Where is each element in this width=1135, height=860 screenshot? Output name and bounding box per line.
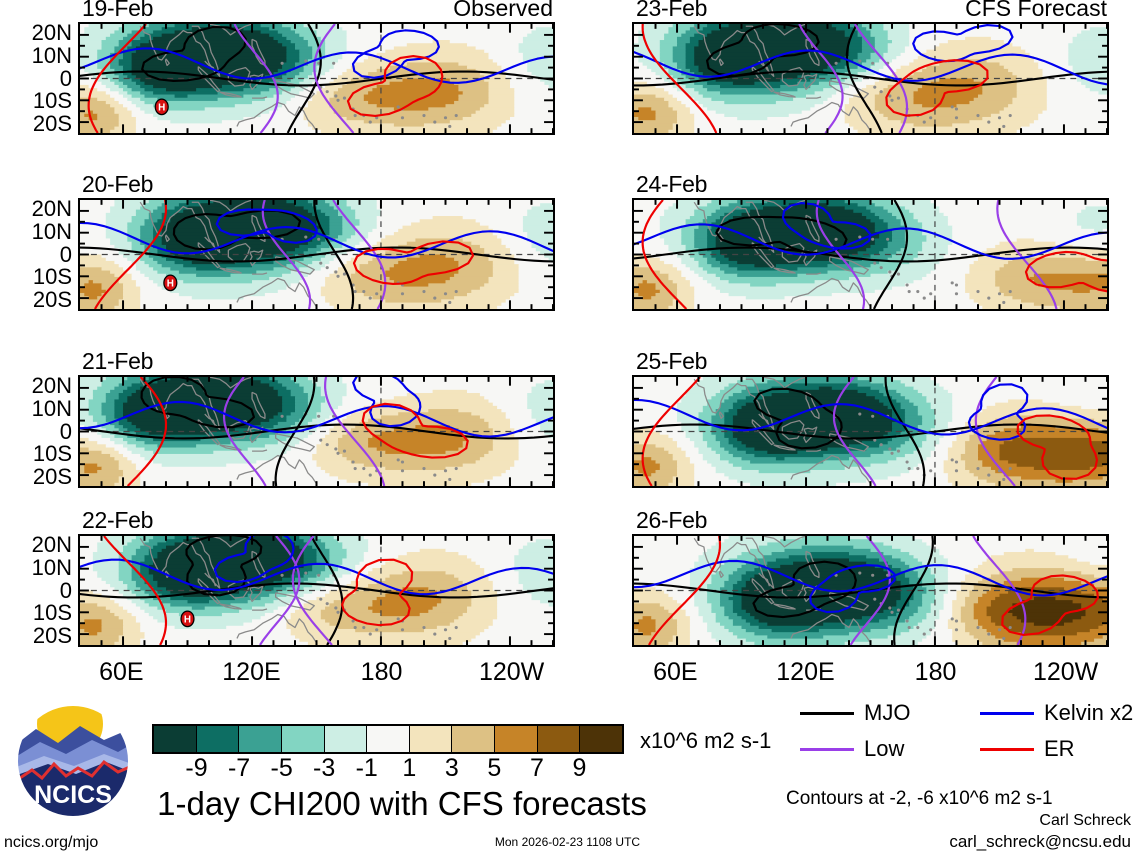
y-tick-label: 20N [32, 534, 72, 556]
colorbar-tick-label: -5 [271, 756, 293, 781]
y-tick-label: 20S [33, 113, 72, 135]
colorbar-tick-label: 5 [487, 756, 501, 781]
y-tick-label: 0 [60, 580, 72, 602]
y-tick-label: 0 [60, 421, 72, 443]
legend-label: Low [864, 738, 904, 760]
y-tick-label: 10N [32, 557, 72, 579]
panel-date-label: 22-Feb [82, 509, 153, 532]
x-tick-label: 120E [222, 660, 280, 685]
legend-label: ER [1044, 738, 1075, 760]
y-tick-label: 20N [32, 375, 72, 397]
author-name: Carl Schreck [1039, 812, 1131, 829]
colorbar-tick-label: 1 [402, 756, 416, 781]
y-tick-label: 20S [33, 625, 72, 647]
map-panel-26-feb: 26-Feb60E120E180120W [632, 534, 1109, 647]
y-axis-labels: 20N10N010S20S [4, 198, 78, 311]
colorbar-swatch [580, 726, 622, 752]
panel-source-label: Observed [453, 0, 553, 20]
y-tick-label: 10S [33, 443, 72, 465]
chi200-map [632, 534, 1109, 647]
panel-date-label: 21-Feb [82, 350, 153, 373]
legend-line-swatch [800, 712, 854, 715]
y-tick-label: 20S [33, 466, 72, 488]
colorbar-swatch [282, 726, 325, 752]
panel-date-label: 24-Feb [636, 173, 707, 196]
map-panel-22-feb: 22-Feb20N10N010S20S60E120E180120WH [78, 534, 555, 647]
legend-entry-er: ER [980, 738, 1075, 760]
y-tick-label: 10S [33, 602, 72, 624]
colorbar-tick-label: -1 [356, 756, 378, 781]
figure-footer: NCICS -9-7-5-3-113579 x10^6 m2 s-1 1-day… [0, 690, 1135, 860]
y-tick-label: 10N [32, 398, 72, 420]
svg-text:H: H [158, 103, 165, 114]
panel-date-label: 26-Feb [636, 509, 707, 532]
y-tick-label: 10N [32, 45, 72, 67]
legend-line-swatch [980, 748, 1034, 751]
svg-text:H: H [167, 279, 174, 290]
colorbar-swatch [154, 726, 197, 752]
colorbar-swatches [152, 724, 624, 754]
y-axis-labels: 20N10N010S20S [4, 375, 78, 488]
x-tick-label: 60E [99, 660, 143, 685]
svg-text:H: H [184, 615, 191, 626]
map-panel-20-feb: 20-Feb20N10N010S20SH [78, 198, 555, 311]
y-tick-label: 10S [33, 266, 72, 288]
colorbar-tick-label: 3 [445, 756, 459, 781]
legend-line-swatch [800, 748, 854, 751]
x-tick-label: 120W [479, 660, 544, 685]
panel-source-label: CFS Forecast [965, 0, 1107, 20]
y-axis-labels: 20N10N010S20S [4, 534, 78, 647]
colorbar-swatch [197, 726, 240, 752]
colorbar-swatch [367, 726, 410, 752]
x-tick-label: 180 [361, 660, 403, 685]
legend-label: Kelvin x2 [1044, 702, 1133, 724]
colorbar-swatch [325, 726, 368, 752]
colorbar-tick-label: -9 [185, 756, 207, 781]
map-panel-24-feb: 24-Feb [632, 198, 1109, 311]
ncics-logo: NCICS [14, 702, 132, 820]
x-axis-labels: 60E120E180120W [632, 647, 1109, 687]
y-tick-label: 20S [33, 289, 72, 311]
chi200-map: H [78, 22, 555, 135]
colorbar-swatch [410, 726, 453, 752]
legend-entry-mjo: MJO [800, 702, 910, 724]
colorbar-tick-label: -7 [228, 756, 250, 781]
map-panel-19-feb: 19-FebObserved20N10N010S20SH [78, 22, 555, 135]
chi200-map [632, 375, 1109, 488]
y-tick-label: 10S [33, 90, 72, 112]
chi200-map: H [78, 198, 555, 311]
colorbar-tick-label: 9 [573, 756, 587, 781]
chi200-map: H [78, 534, 555, 647]
y-tick-label: 20N [32, 198, 72, 220]
colorbar-unit-label: x10^6 m2 s-1 [640, 730, 771, 752]
colorbar-tick-label: -3 [313, 756, 335, 781]
y-tick-label: 0 [60, 68, 72, 90]
colorbar: -9-7-5-3-113579 [152, 724, 624, 784]
map-panel-25-feb: 25-Feb [632, 375, 1109, 488]
y-tick-label: 10N [32, 221, 72, 243]
panel-date-label: 23-Feb [636, 0, 707, 20]
panel-date-label: 19-Feb [82, 0, 153, 20]
chi200-map [78, 375, 555, 488]
ncics-logo-text: NCICS [34, 781, 112, 809]
colorbar-ticklabels: -9-7-5-3-113579 [152, 754, 624, 784]
y-tick-label: 0 [60, 244, 72, 266]
panel-date-label: 25-Feb [636, 350, 707, 373]
colorbar-swatch [239, 726, 282, 752]
chi200-map [632, 22, 1109, 135]
map-panel-21-feb: 21-Feb20N10N010S20S [78, 375, 555, 488]
x-tick-label: 60E [653, 660, 697, 685]
contour-levels-note: Contours at -2, -6 x10^6 m2 s-1 [786, 788, 1135, 809]
panel-date-label: 20-Feb [82, 173, 153, 196]
y-tick-label: 20N [32, 22, 72, 44]
legend-label: MJO [864, 702, 910, 724]
chi200-map [632, 198, 1109, 311]
colorbar-swatch [452, 726, 495, 752]
generation-timestamp: Mon 2026-02-23 1108 UTC [0, 836, 1135, 849]
x-tick-label: 180 [915, 660, 957, 685]
map-panel-23-feb: 23-FebCFS Forecast [632, 22, 1109, 135]
legend-entry-kelvin-x2: Kelvin x2 [980, 702, 1133, 724]
x-axis-labels: 60E120E180120W [78, 647, 555, 687]
colorbar-swatch [538, 726, 581, 752]
colorbar-tick-label: 7 [530, 756, 544, 781]
x-tick-label: 120W [1033, 660, 1098, 685]
y-axis-labels: 20N10N010S20S [4, 22, 78, 135]
colorbar-swatch [495, 726, 538, 752]
legend-line-swatch [980, 712, 1034, 715]
contour-legend: MJOKelvin x2LowER [800, 702, 1130, 772]
x-tick-label: 120E [776, 660, 834, 685]
figure-title: 1-day CHI200 with CFS forecasts [152, 786, 652, 822]
panel-grid: 19-FebObserved20N10N010S20SH20-Feb20N10N… [0, 0, 1135, 690]
legend-entry-low: Low [800, 738, 904, 760]
